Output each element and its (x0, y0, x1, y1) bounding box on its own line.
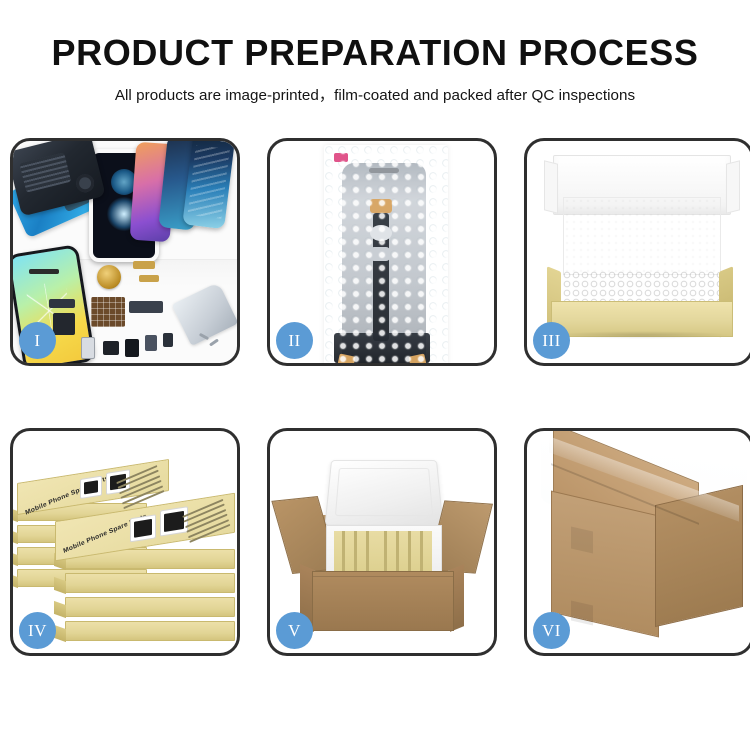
kraft-box-front-3 (65, 573, 235, 593)
kraft-boxes-inside (334, 531, 432, 573)
flex-cable-part-3 (139, 275, 159, 282)
chip-grid-part (91, 297, 125, 327)
sim-tray-part (81, 337, 95, 359)
flex-cable-part-2 (133, 261, 155, 269)
foam-sheet (563, 197, 721, 275)
kraft-box-front-5 (65, 621, 235, 641)
connector-board (334, 333, 430, 363)
foam-box-lid (325, 460, 444, 526)
step-badge-5: V (276, 612, 313, 649)
page-subtitle: All products are image-printed，film-coat… (0, 83, 750, 105)
process-step-6[interactable]: VI (524, 428, 750, 656)
small-part-5 (163, 333, 173, 347)
carton-front-wall (312, 571, 454, 631)
speaker-coil-part (97, 265, 121, 289)
step-badge-1: I (19, 322, 56, 359)
step-badge-2: II (276, 322, 313, 359)
flex-pad-upper (370, 225, 392, 241)
kraft-box-front-4 (65, 597, 235, 617)
bubble-wrapped-contents (563, 271, 719, 305)
carton-handle-tab-lower (571, 600, 593, 625)
flex-cable-part-4 (49, 299, 75, 308)
process-step-4[interactable]: Mobile Phone Spare Parts (10, 428, 240, 656)
process-step-2[interactable]: II (267, 138, 497, 366)
process-step-5[interactable]: V (267, 428, 497, 656)
box-screen-image-rear-1 (80, 476, 102, 499)
page-header: PRODUCT PREPARATION PROCESS All products… (0, 0, 750, 105)
small-part-4 (145, 335, 157, 351)
flex-cable-part-1 (29, 269, 59, 274)
box-feature-list-front (182, 499, 231, 548)
step-badge-4: IV (19, 612, 56, 649)
step-badge-3: III (533, 322, 570, 359)
page-title: PRODUCT PREPARATION PROCESS (0, 34, 750, 72)
small-part-3 (125, 339, 139, 357)
step-badge-6: VI (533, 612, 570, 649)
box-drop-shadow (553, 331, 731, 339)
phone-gradient-wave (182, 141, 235, 229)
flex-cable-part-5 (129, 301, 163, 313)
flex-pad-lower (370, 247, 390, 261)
product-preparation-page: PRODUCT PREPARATION PROCESS All products… (0, 0, 750, 750)
process-step-1[interactable]: I (10, 138, 240, 366)
process-step-grid: I II (10, 138, 740, 656)
screws-group (199, 333, 225, 349)
camera-module-part (53, 313, 75, 335)
small-part-2 (103, 341, 119, 355)
pink-label-tab (334, 153, 348, 162)
box-screen-image-front-1 (130, 514, 156, 542)
carton-front-face (551, 491, 659, 638)
process-step-3[interactable]: III (524, 138, 750, 366)
